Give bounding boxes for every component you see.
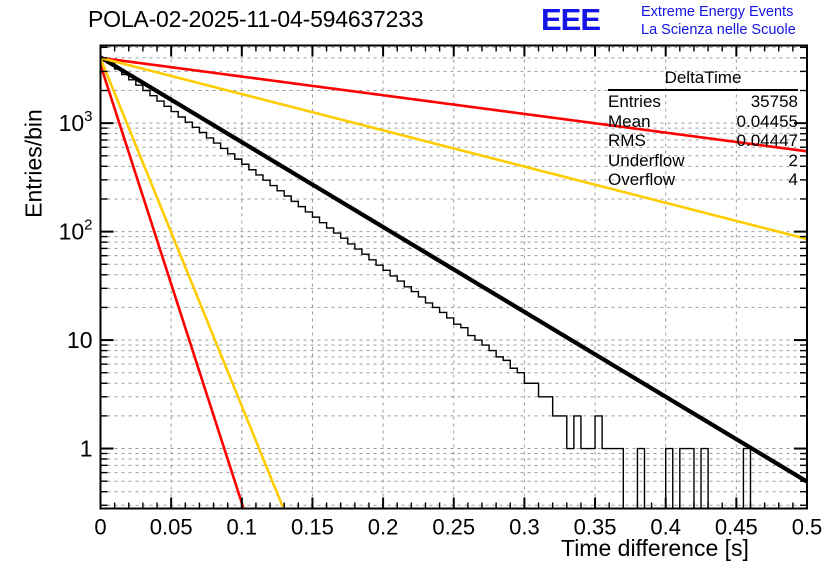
stats-row: Overflow4 (608, 170, 798, 190)
stats-row-label: RMS (608, 131, 646, 151)
x-tick-label: 0.5 (792, 515, 823, 540)
stats-title-rule (608, 89, 798, 91)
stats-row-value: 2 (789, 151, 798, 171)
stats-row-value: 0.04455 (737, 112, 798, 132)
y-tick-label: 10 (67, 327, 93, 353)
x-tick-label: 0.05 (150, 515, 193, 540)
stats-box: DeltaTime Entries35758Mean0.04455RMS0.04… (608, 68, 798, 190)
stats-row: Underflow2 (608, 151, 798, 171)
stats-rows: Entries35758Mean0.04455RMS0.04447Underfl… (608, 92, 798, 190)
stats-row-label: Entries (608, 92, 661, 112)
x-tick-label: 0.2 (368, 515, 399, 540)
y-tick-label: 102 (59, 217, 93, 245)
x-tick-label: 0.25 (432, 515, 475, 540)
y-tick-label-exponent: 2 (84, 217, 92, 234)
stats-row-value: 4 (789, 170, 798, 190)
root-canvas: POLA-02-2025-11-04-594637233 EEE Extreme… (0, 0, 836, 572)
x-tick-label: 0.1 (227, 515, 258, 540)
x-axis-title: Time difference [s] (561, 535, 749, 562)
stats-row: Mean0.04455 (608, 112, 798, 132)
stats-row-label: Mean (608, 112, 651, 132)
x-tick-label: 0.3 (509, 515, 540, 540)
stats-row: Entries35758 (608, 92, 798, 112)
stats-row-value: 35758 (751, 92, 798, 112)
y-tick-label: 103 (59, 108, 93, 136)
stats-row-label: Overflow (608, 170, 675, 190)
stats-row-value: 0.04447 (737, 131, 798, 151)
stats-row-label: Underflow (608, 151, 685, 171)
x-tick-label: 0 (94, 515, 106, 540)
x-tick-label: 0.15 (291, 515, 334, 540)
stats-title: DeltaTime (608, 68, 798, 89)
y-tick-label-exponent: 3 (84, 108, 92, 125)
stats-row: RMS0.04447 (608, 131, 798, 151)
y-tick-label: 1 (80, 436, 93, 462)
y-axis-title: Entries/bin (21, 74, 48, 254)
